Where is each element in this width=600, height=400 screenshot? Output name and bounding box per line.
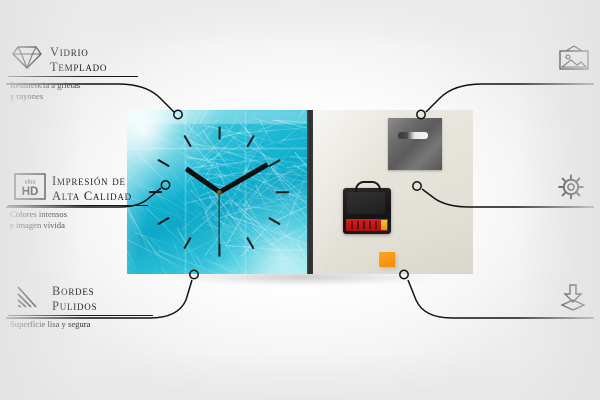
feature-description: Resistencia a grietas y rayones — [10, 80, 80, 102]
feature-title: Bordes Pulidos — [52, 284, 97, 313]
desc-line: e imagen vívida — [10, 220, 67, 231]
picture-hanger-icon — [558, 44, 590, 71]
title-line: Pulidos — [52, 299, 97, 314]
divider — [8, 205, 148, 206]
feature-description: Colores intensos e imagen vívida — [10, 209, 67, 231]
diamond-icon — [12, 44, 42, 70]
foam-spacer-icon — [558, 283, 588, 311]
feature-title: Vidrio Templado — [50, 45, 107, 74]
title-line: Impresión de — [52, 174, 132, 189]
battery-compartment — [346, 219, 388, 231]
svg-text:HD: HD — [22, 186, 39, 198]
desc-line: Resistencia a grietas — [10, 80, 80, 91]
foam-spacer — [379, 252, 395, 267]
product-photo — [124, 108, 476, 274]
clock-dial — [127, 110, 307, 274]
svg-text:ultra: ultra — [25, 180, 36, 186]
battery-terminal — [381, 220, 387, 230]
hanger-slot — [398, 132, 428, 139]
title-line: Templado — [50, 60, 107, 75]
metal-hanger-plate — [388, 118, 442, 170]
mechanism-face — [347, 192, 385, 214]
clock-back-panel — [313, 110, 473, 274]
title-line: Bordes — [52, 284, 97, 299]
feature-description: Superficie lisa y segura — [10, 319, 90, 330]
desc-line: Superficie lisa y segura — [10, 319, 90, 330]
feature-title: Impresión de Alta Calidad — [52, 174, 132, 203]
divider — [8, 76, 138, 77]
desc-line: y rayones — [10, 91, 80, 102]
gear-icon — [556, 173, 586, 201]
title-line: Alta Calidad — [52, 189, 132, 204]
infographic-canvas: Vidrio Templado Resistencia a grietas y … — [0, 0, 600, 400]
title-line: Vidrio — [50, 45, 107, 60]
ultra-hd-icon: ultra HD — [14, 173, 46, 200]
clock-mechanism — [343, 188, 391, 234]
divider — [8, 315, 153, 316]
desc-line: Colores intensos — [10, 209, 67, 220]
polished-edges-icon — [16, 285, 46, 309]
